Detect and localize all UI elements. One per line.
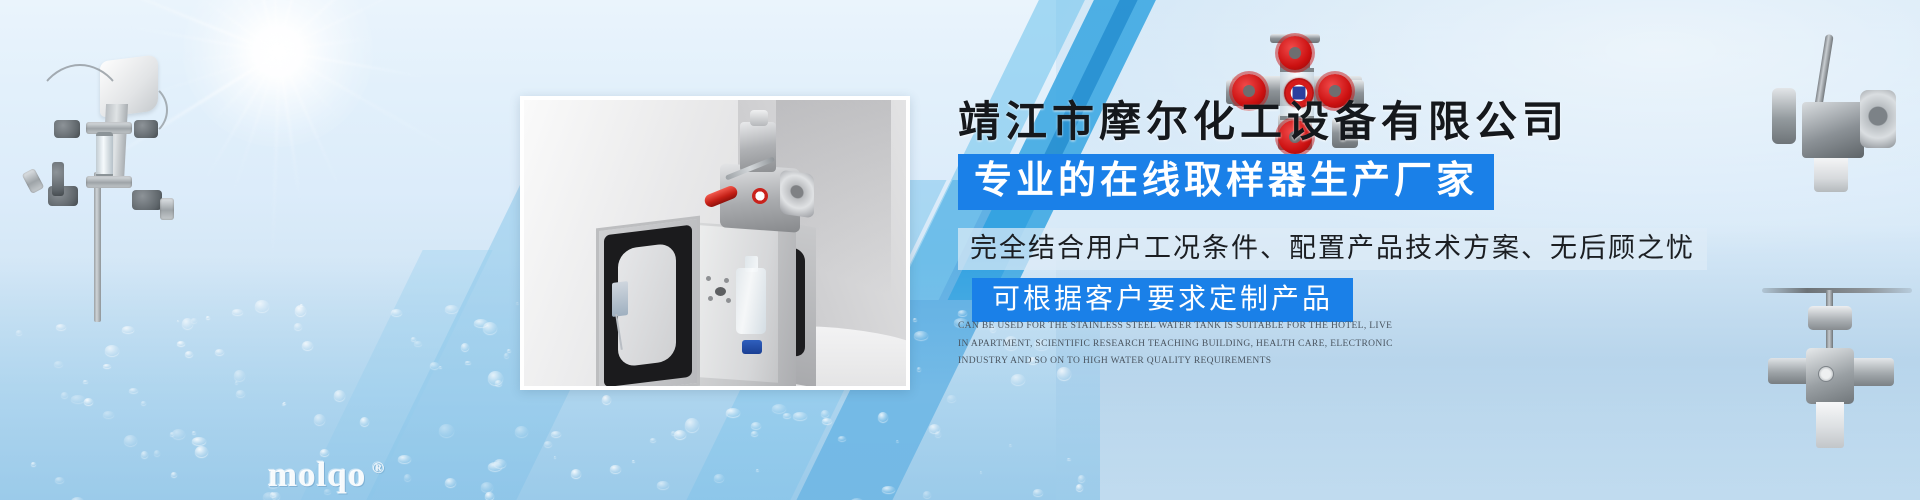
promotional-banner: 靖江市摩尔化工设备有限公司 专业的在线取样器生产厂家 完全结合用户工况条件、配置… — [0, 0, 1920, 500]
english-description: CAN BE USED FOR THE STAINLESS STEEL WATE… — [958, 318, 1396, 371]
company-name: 靖江市摩尔化工设备有限公司 — [958, 88, 1569, 149]
watermark-text: molqo — [268, 455, 366, 494]
tagline-secondary: 完全结合用户工况条件、配置产品技术方案、无后顾之忧 — [958, 228, 1707, 270]
tagline-custom-products: 可根据客户要求定制产品 — [972, 278, 1353, 322]
registered-mark-icon: ® — [372, 460, 385, 477]
tagline-primary: 专业的在线取样器生产厂家 — [958, 154, 1494, 210]
text-content: 靖江市摩尔化工设备有限公司 专业的在线取样器生产厂家 完全结合用户工况条件、配置… — [0, 0, 1920, 500]
watermark-logo: molqo® — [268, 455, 385, 495]
